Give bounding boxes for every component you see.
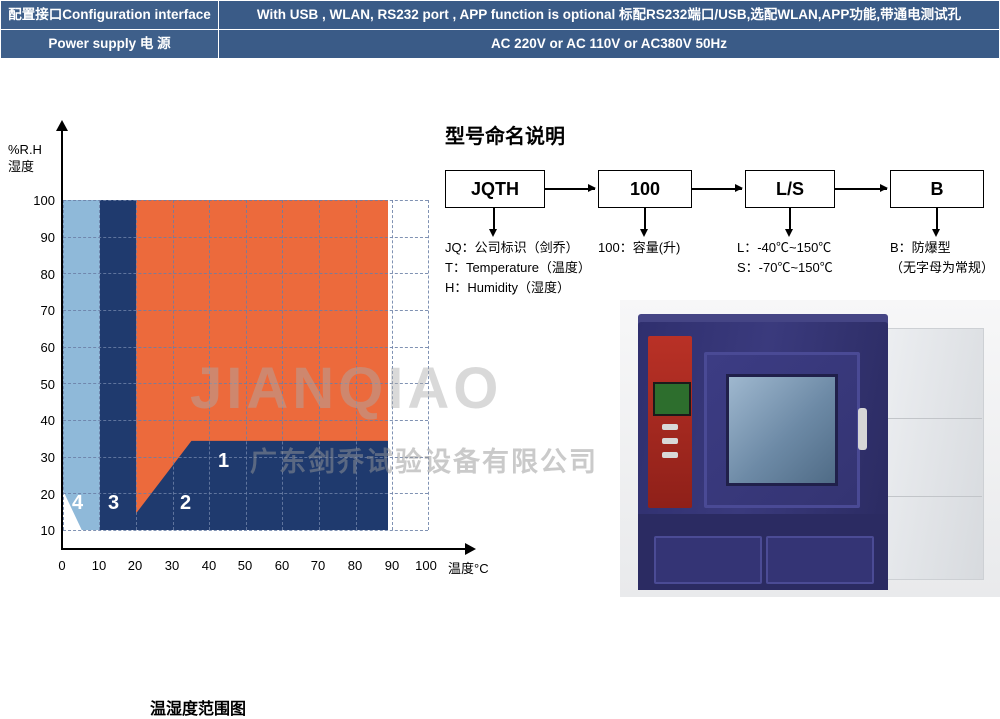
control-knob-icon [662,438,678,444]
y-tick-40: 40 [25,413,55,428]
y-tick-70: 70 [25,303,55,318]
spec-label-configuration-interface: 配置接口Configuration interface [1,1,219,30]
table-row: 配置接口Configuration interface With USB , W… [1,1,1000,30]
x-tick-100: 100 [414,558,438,573]
temperature-humidity-chart: %R.H湿度 温度°C 100 90 80 70 60 50 40 30 20 … [0,110,470,597]
legend-line-b: B：防爆型 [890,238,994,258]
base-drawer-right [766,536,874,584]
control-knob-icon [662,424,678,430]
legend-group-2: 100：容量(升) [598,238,680,258]
control-panel [648,336,692,508]
x-tick-40: 40 [197,558,221,573]
legend-group-3: L：-40℃~150℃ S：-70℃~150℃ [737,238,833,278]
arrow-connector-1-icon [545,188,595,190]
legend-line-s: S：-70℃~150℃ [737,258,833,278]
chart-zone-label-3: 3 [108,492,119,515]
spec-value-configuration-interface: With USB , WLAN, RS232 port , APP functi… [219,1,1000,30]
x-tick-90: 90 [380,558,404,573]
specification-table: 配置接口Configuration interface With USB , W… [0,0,1000,59]
chart-zone-label-2: 2 [180,492,191,515]
spec-value-power-supply: AC 220V or AC 110V or AC380V 50Hz [219,30,1000,59]
y-axis-arrow-icon [56,120,68,131]
side-panel-seam [886,496,982,497]
y-tick-90: 90 [25,230,55,245]
chart-zone-label-4: 4 [72,492,83,515]
legend-group-1: JQ：公司标识（剑乔） T：Temperature（温度） H：Humidity… [445,238,591,298]
y-axis-label-text: %R.H湿度 [8,142,42,174]
x-tick-50: 50 [233,558,257,573]
y-tick-100: 100 [25,193,55,208]
y-tick-10: 10 [25,523,55,538]
legend-line-t: T：Temperature（温度） [445,258,591,278]
naming-title: 型号命名说明 [445,120,565,149]
down-arrow-1-icon [493,208,495,230]
controller-display [653,382,691,416]
x-tick-70: 70 [306,558,330,573]
arrow-connector-3-icon [835,188,887,190]
legend-group-4: B：防爆型 （无字母为常规） [890,238,994,278]
chamber-side-panel [886,328,984,580]
legend-line-b-note: （无字母为常规） [890,258,994,278]
y-tick-50: 50 [25,377,55,392]
base-drawer-left [654,536,762,584]
x-axis-arrow-icon [465,543,476,555]
x-tick-30: 30 [160,558,184,573]
y-tick-20: 20 [25,487,55,502]
code-box-capacity: 100 [598,170,692,208]
door-handle [858,408,867,450]
down-arrow-3-icon [789,208,791,230]
control-knob-icon [662,452,678,458]
chart-x-axis-label: 温度°C [448,558,489,577]
arrow-connector-2-icon [692,188,742,190]
legend-line-jq: JQ：公司标识（剑乔） [445,238,591,258]
legend-line-l: L：-40℃~150℃ [737,238,833,258]
y-tick-80: 80 [25,267,55,282]
chart-x-axis [61,548,471,550]
chart-caption: 温湿度范围图 [150,695,246,719]
chart-zone-label-1: 1 [218,450,229,473]
door-window [726,374,838,486]
down-arrow-4-icon [936,208,938,230]
product-photo [620,300,1000,597]
down-arrow-2-icon [644,208,646,230]
x-tick-0: 0 [50,558,74,573]
legend-line-capacity: 100：容量(升) [598,238,680,258]
x-tick-60: 60 [270,558,294,573]
y-tick-60: 60 [25,340,55,355]
x-tick-80: 80 [343,558,367,573]
code-box-type: B [890,170,984,208]
x-tick-10: 10 [87,558,111,573]
chart-y-axis-label: %R.H湿度 [8,142,42,176]
x-tick-20: 20 [123,558,147,573]
table-row: Power supply 电 源 AC 220V or AC 110V or A… [1,30,1000,59]
legend-line-h: H：Humidity（湿度） [445,278,591,298]
code-box-temprange: L/S [745,170,835,208]
spec-label-power-supply: Power supply 电 源 [1,30,219,59]
side-panel-seam [886,418,982,419]
code-box-jqth: JQTH [445,170,545,208]
y-tick-30: 30 [25,450,55,465]
